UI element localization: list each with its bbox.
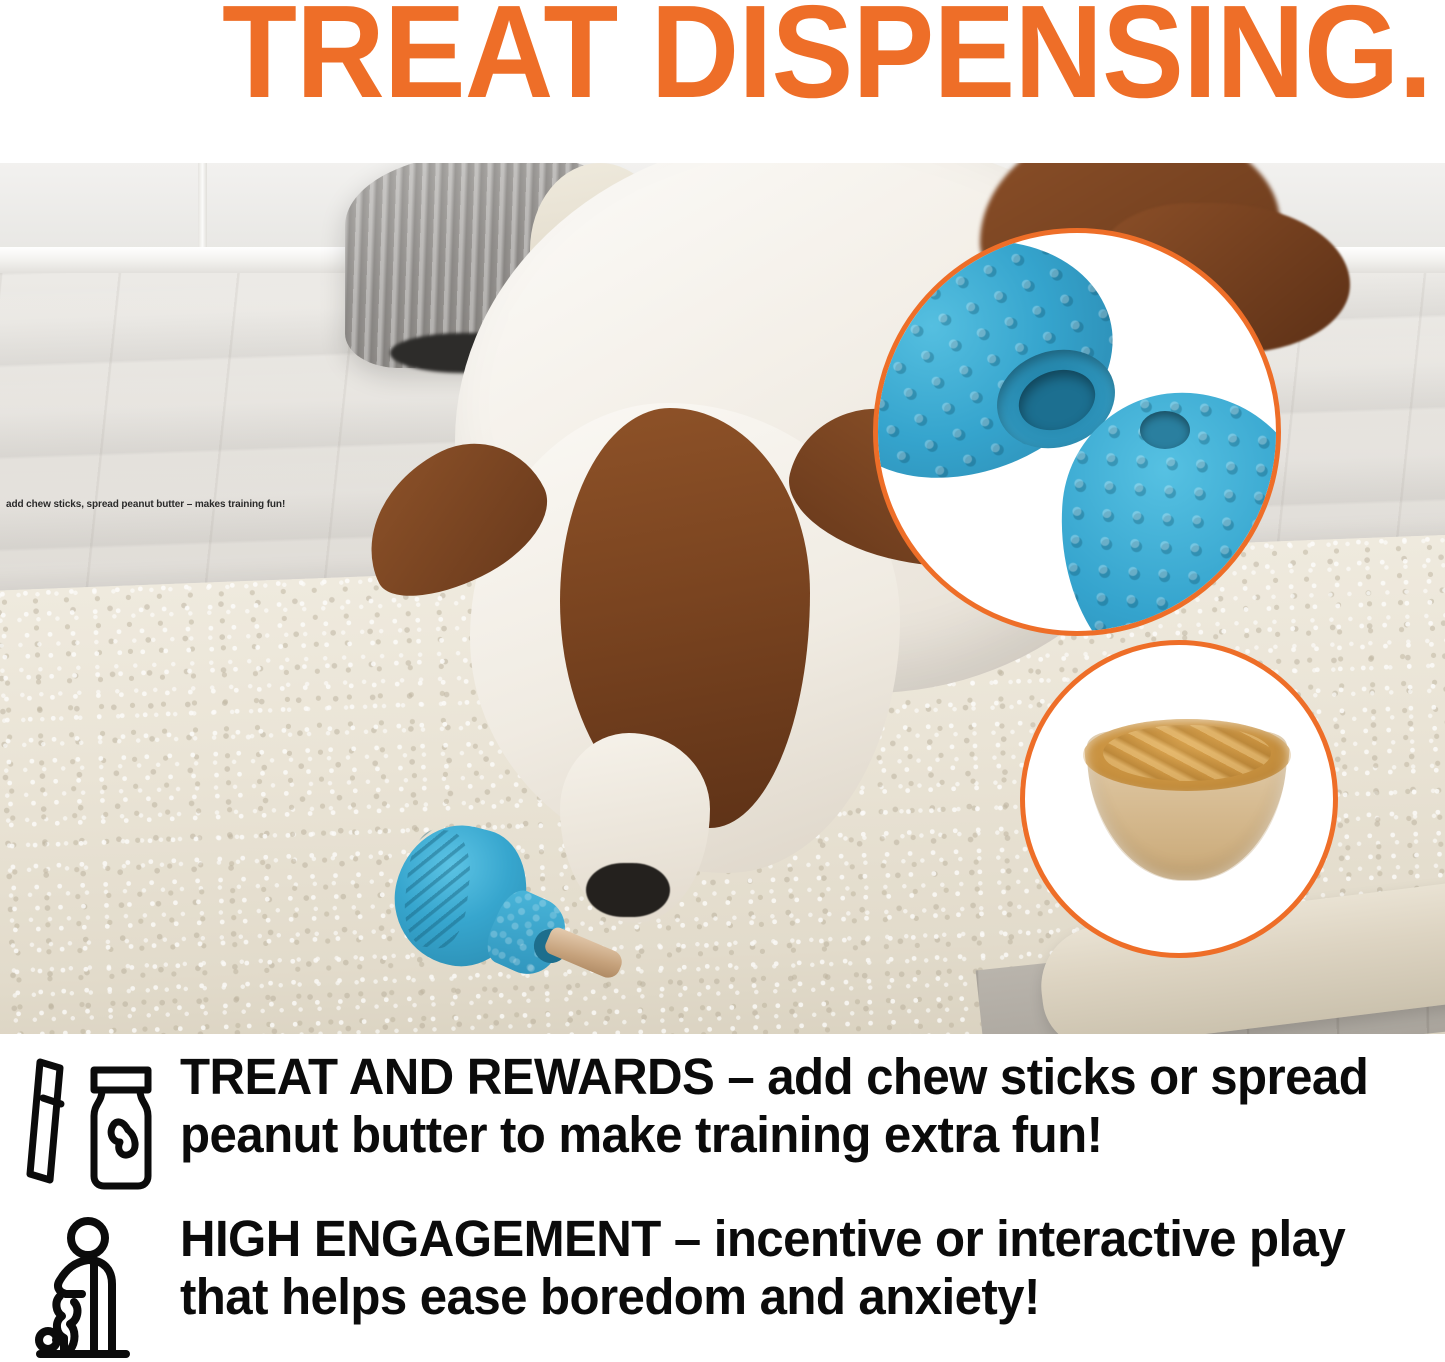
feature-row-high-engagement: HIGH ENGAGEMENT – incentive or interacti… [0, 1210, 1445, 1362]
inset-toy-lower-opening [1140, 411, 1190, 449]
dog-nose [586, 863, 670, 917]
inset-toys-closeup [873, 228, 1281, 636]
glass-bowl-rim [1081, 715, 1293, 883]
product-feature-page: TREAT DISPENSING. add ch [0, 0, 1445, 1354]
feature-list: TREAT AND REWARDS – add chew sticks or s… [0, 1034, 1445, 1354]
feature-text-treat-and-rewards: TREAT AND REWARDS – add chew sticks or s… [180, 1048, 1401, 1164]
person-with-dog-icon [0, 1210, 180, 1362]
hero-photo: add chew sticks, spread peanut butter – … [0, 163, 1445, 1034]
feature-row-treat-and-rewards: TREAT AND REWARDS – add chew sticks or s… [0, 1048, 1445, 1196]
chew-stick-and-peanut-butter-jar-icon [0, 1048, 180, 1196]
inset-peanut-butter [1020, 640, 1338, 958]
photo-overlay-caption: add chew sticks, spread peanut butter – … [6, 499, 285, 510]
feature-text-high-engagement: HIGH ENGAGEMENT – incentive or interacti… [180, 1210, 1401, 1326]
page-title: TREAT DISPENSING. [222, 0, 1432, 118]
headline-band: TREAT DISPENSING. [0, 0, 1445, 163]
